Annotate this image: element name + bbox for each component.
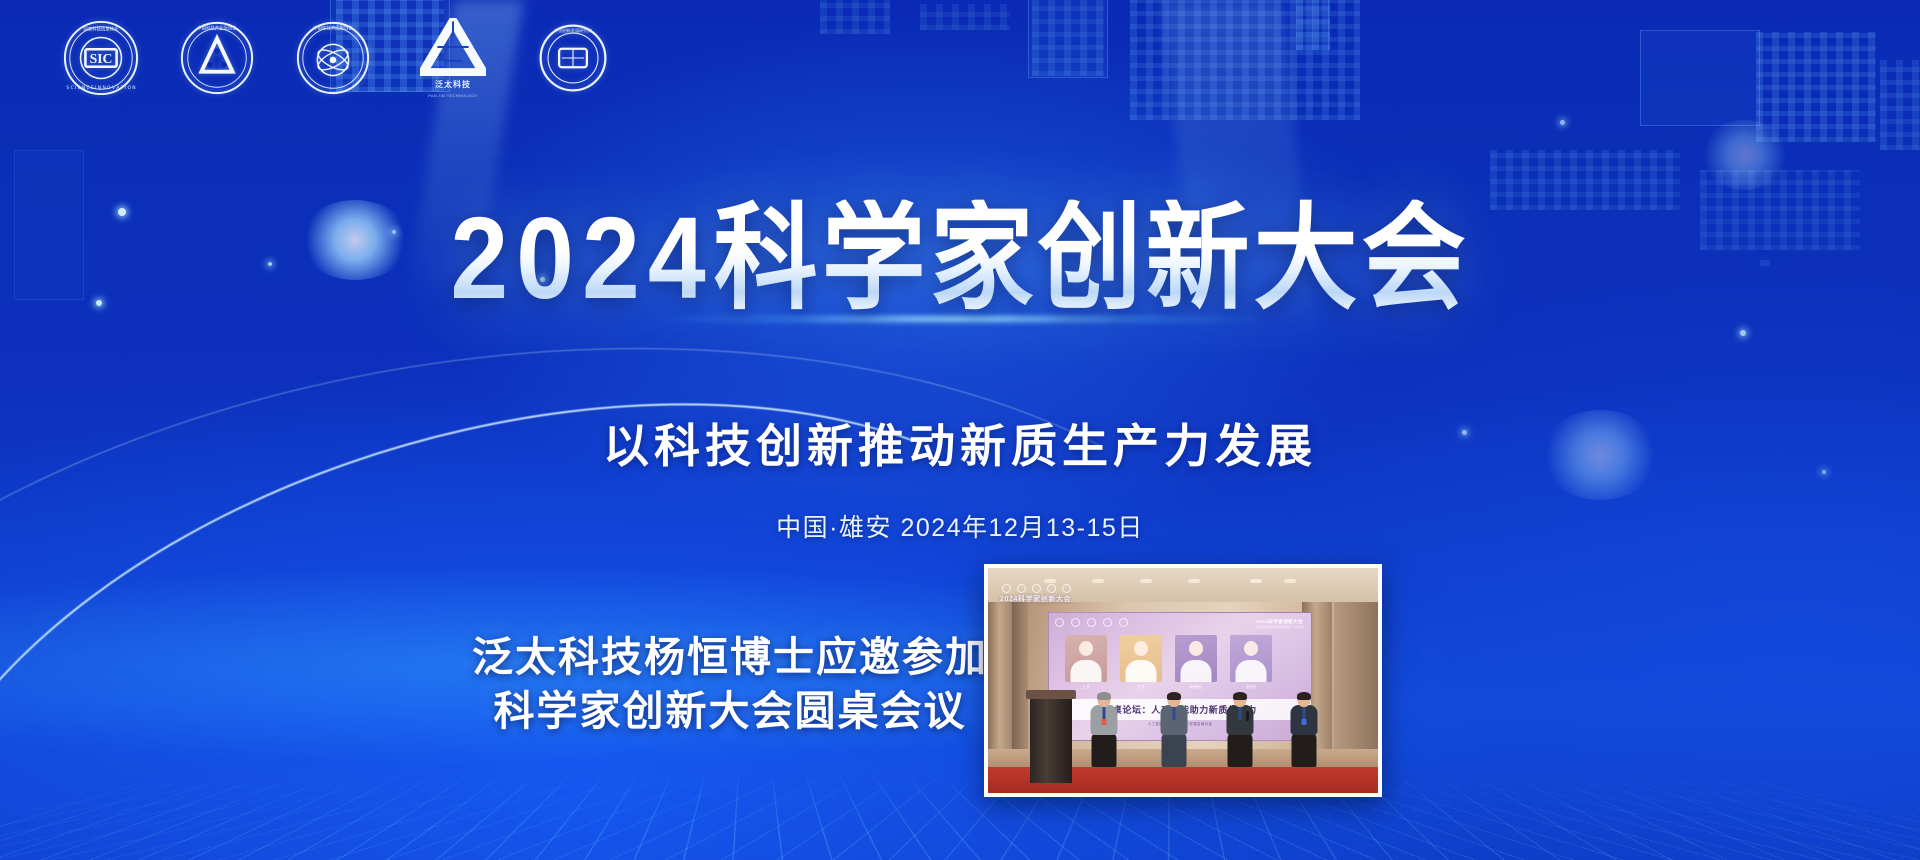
dateline: 中国·雄安 2024年12月13-15日: [0, 508, 1920, 544]
screen-chip-icon: [1103, 618, 1112, 627]
panelist-name: 李开复: [1230, 685, 1272, 690]
logo-sic-seal: SIC 国家科技成果转化 S C I E N C E I N N O V A T…: [62, 19, 140, 97]
photo-panelist-seated: [1084, 693, 1124, 771]
photo-stage-banner: 2024科学家创新大会: [1000, 594, 1071, 604]
panelist-name: 杨恒博士: [1175, 685, 1217, 690]
photo-panelist-seated: [1284, 693, 1324, 771]
subtitle: 以科技创新推动新质生产力发展: [0, 410, 1920, 476]
logo-round-badge: 中国创新发展研究院: [534, 19, 612, 97]
logo-triangle-caption: 泛太科技: [435, 79, 471, 90]
screen-chip-icon: [1087, 618, 1096, 627]
particle-dot: [1740, 330, 1746, 336]
headline-line-2: 科学家创新大会圆桌会议: [470, 684, 990, 738]
title-year: 2024: [450, 194, 713, 324]
particle-dot: [1560, 120, 1565, 125]
panelist-name: 张 勤: [1120, 685, 1162, 690]
photo-podium: [1030, 697, 1072, 783]
logo-trefoil-seal: 中国科技产业促进会: [178, 19, 256, 97]
logo-atom-seal: 中国核技术应用协会: [294, 19, 372, 97]
screen-panelist-portraits: 王 坚 张 勤 杨恒博士 李开复: [1065, 635, 1272, 690]
stage-chip-icon: [1032, 584, 1041, 593]
headline-line-1: 泛太科技杨恒博士应邀参加: [470, 630, 990, 684]
screen-chip-icon: [1055, 618, 1064, 627]
stage-chip-icon: [1047, 584, 1056, 593]
panelist-card: 张 勤: [1120, 635, 1162, 690]
screen-brand: 2024科学家创新大会 以科技创新推动新质生产力发展: [1256, 619, 1304, 629]
logo-triangle: 泛太科技 PAN-TAI TECHNOLOGY: [410, 18, 496, 98]
stage-chip-icon: [1017, 584, 1026, 593]
screen-brand-sub: 以科技创新推动新质生产力发展: [1256, 625, 1304, 629]
logo-row: SIC 国家科技成果转化 S C I E N C E I N N O V A T…: [62, 18, 612, 98]
logo-triangle-subcaption: PAN-TAI TECHNOLOGY: [428, 93, 478, 98]
stage-chip-icon: [1062, 584, 1071, 593]
stage-chip-icon: [1002, 584, 1011, 593]
screen-chip-icon: [1119, 618, 1128, 627]
light-spark: [1700, 120, 1790, 190]
headline-block: 泛太科技杨恒博士应邀参加 科学家创新大会圆桌会议: [470, 630, 990, 738]
svg-text:中国创新发展研究院: 中国创新发展研究院: [554, 27, 591, 33]
page-title: 2024科学家创新大会: [0, 200, 1920, 319]
panelist-card: 杨恒博士: [1175, 635, 1217, 690]
panelist-card: 王 坚: [1065, 635, 1107, 690]
title-main: 科学家创新大会: [714, 194, 1470, 324]
event-photo: 2024科学家创新大会 2024科学家创新大会 以科技创新推动新质生产力发展: [984, 564, 1382, 797]
screen-chip-icon: [1071, 618, 1080, 627]
conference-banner: SIC 国家科技成果转化 S C I E N C E I N N O V A T…: [0, 0, 1920, 860]
panelist-card: 李开复: [1230, 635, 1272, 690]
svg-text:中国核技术应用协会: 中国核技术应用协会: [313, 25, 353, 32]
svg-text:中国科技产业促进会: 中国科技产业促进会: [197, 25, 237, 32]
svg-text:SIC: SIC: [90, 51, 113, 66]
photo-panelist-seated: [1154, 693, 1194, 771]
photo-panelist-seated: [1220, 693, 1260, 771]
svg-text:国家科技成果转化: 国家科技成果转化: [84, 26, 120, 33]
svg-text:S C I E N C E I N N O V A T I: S C I E N C E I N N O V A T I O N: [66, 85, 135, 91]
